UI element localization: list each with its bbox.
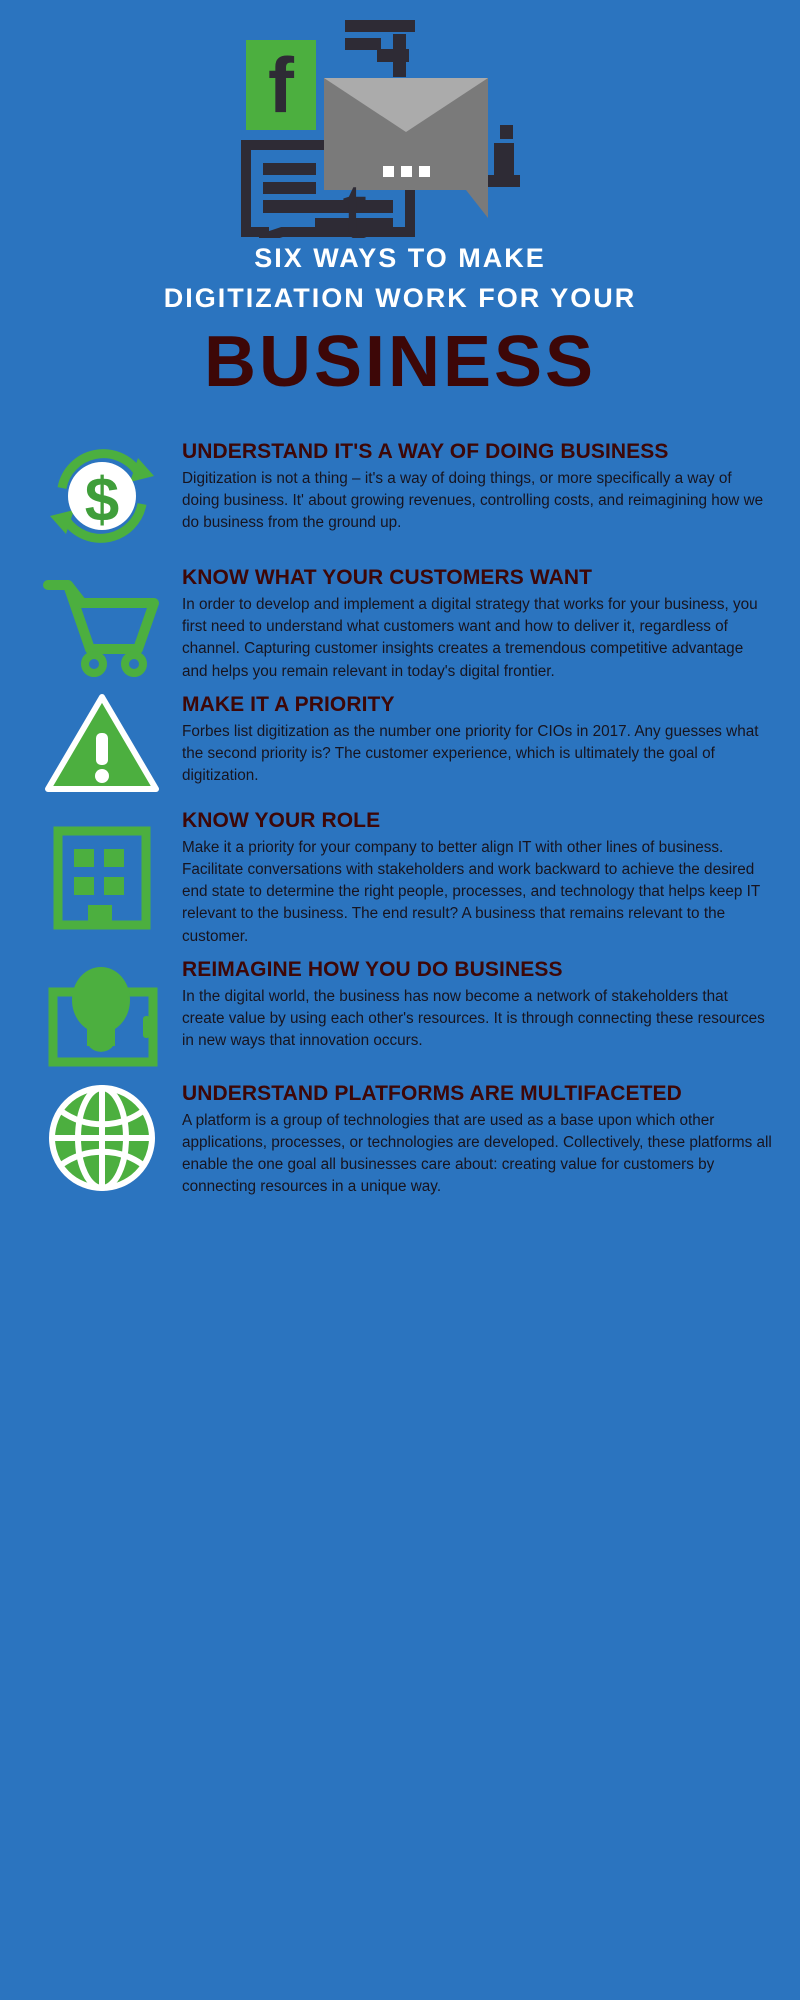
title-block: SIX WAYS TO MAKE DIGITIZATION WORK FOR Y… (0, 238, 800, 402)
icon-slot: $ (22, 436, 182, 556)
section-body: Make it a priority for your company to b… (182, 837, 772, 948)
section-text: UNDERSTAND IT'S A WAY OF DOING BUSINESS … (182, 436, 772, 535)
section-heading: UNDERSTAND IT'S A WAY OF DOING BUSINESS (182, 438, 772, 465)
section-know-your-role: KNOW YOUR ROLE Make it a priority for yo… (0, 805, 800, 948)
section-know-what-your-customers-want: KNOW WHAT YOUR CUSTOMERS WANT In order t… (0, 562, 800, 683)
section-heading: KNOW YOUR ROLE (182, 807, 772, 834)
section-make-it-a-priority: MAKE IT A PRIORITY Forbes list digitizat… (0, 689, 800, 799)
icon-slot (22, 954, 182, 1072)
globe-icon (42, 1078, 162, 1198)
section-body: In order to develop and implement a digi… (182, 594, 772, 683)
office-building-icon (42, 817, 162, 935)
title-line-1: SIX WAYS TO MAKE (30, 238, 770, 278)
title-business: BUSINESS (30, 322, 770, 402)
tumblr-t-icon: t (342, 159, 367, 238)
section-heading: KNOW WHAT YOUR CUSTOMERS WANT (182, 564, 772, 591)
icon-slot (22, 567, 182, 677)
section-body: A platform is a group of technologies th… (182, 1110, 772, 1199)
warning-triangle-icon (42, 689, 162, 799)
section-body: In the digital world, the business has n… (182, 986, 772, 1053)
icon-slot (22, 1078, 182, 1198)
svg-text:t: t (342, 159, 367, 238)
svg-text:f: f (268, 41, 295, 129)
section-text: KNOW WHAT YOUR CUSTOMERS WANT In order t… (182, 562, 772, 683)
infographic-page: f (0, 0, 800, 2000)
dollar-recycle-icon: $ (42, 436, 162, 556)
section-text: MAKE IT A PRIORITY Forbes list digitizat… (182, 689, 772, 788)
facebook-f-badge-icon: f (246, 40, 316, 130)
hero-illustration: f (0, 0, 800, 238)
section-heading: REIMAGINE HOW YOU DO BUSINESS (182, 956, 772, 983)
section-heading: MAKE IT A PRIORITY (182, 691, 772, 718)
section-text: KNOW YOUR ROLE Make it a priority for yo… (182, 805, 772, 948)
section-understand-way-of-doing-business: $ UNDERSTAND IT'S A WAY OF DOING BUSINES… (0, 436, 800, 556)
icon-slot (22, 689, 182, 799)
section-heading: UNDERSTAND PLATFORMS ARE MULTIFACETED (182, 1080, 772, 1107)
section-understand-platforms-are-multifaceted: UNDERSTAND PLATFORMS ARE MULTIFACETED A … (0, 1078, 800, 1199)
section-reimagine-how-you-do-business: REIMAGINE HOW YOU DO BUSINESS In the dig… (0, 954, 800, 1072)
section-text: UNDERSTAND PLATFORMS ARE MULTIFACETED A … (182, 1078, 772, 1199)
shopping-cart-icon (42, 567, 162, 677)
title-line-2: DIGITIZATION WORK FOR YOUR (30, 278, 770, 318)
lightbulb-monitor-icon (39, 954, 165, 1072)
sections-list: $ UNDERSTAND IT'S A WAY OF DOING BUSINES… (0, 436, 800, 1199)
section-text: REIMAGINE HOW YOU DO BUSINESS In the dig… (182, 954, 772, 1053)
icon-slot (22, 817, 182, 935)
section-body: Digitization is not a thing – it's a way… (182, 468, 772, 535)
svg-text:$: $ (85, 466, 119, 535)
section-body: Forbes list digitization as the number o… (182, 721, 772, 788)
